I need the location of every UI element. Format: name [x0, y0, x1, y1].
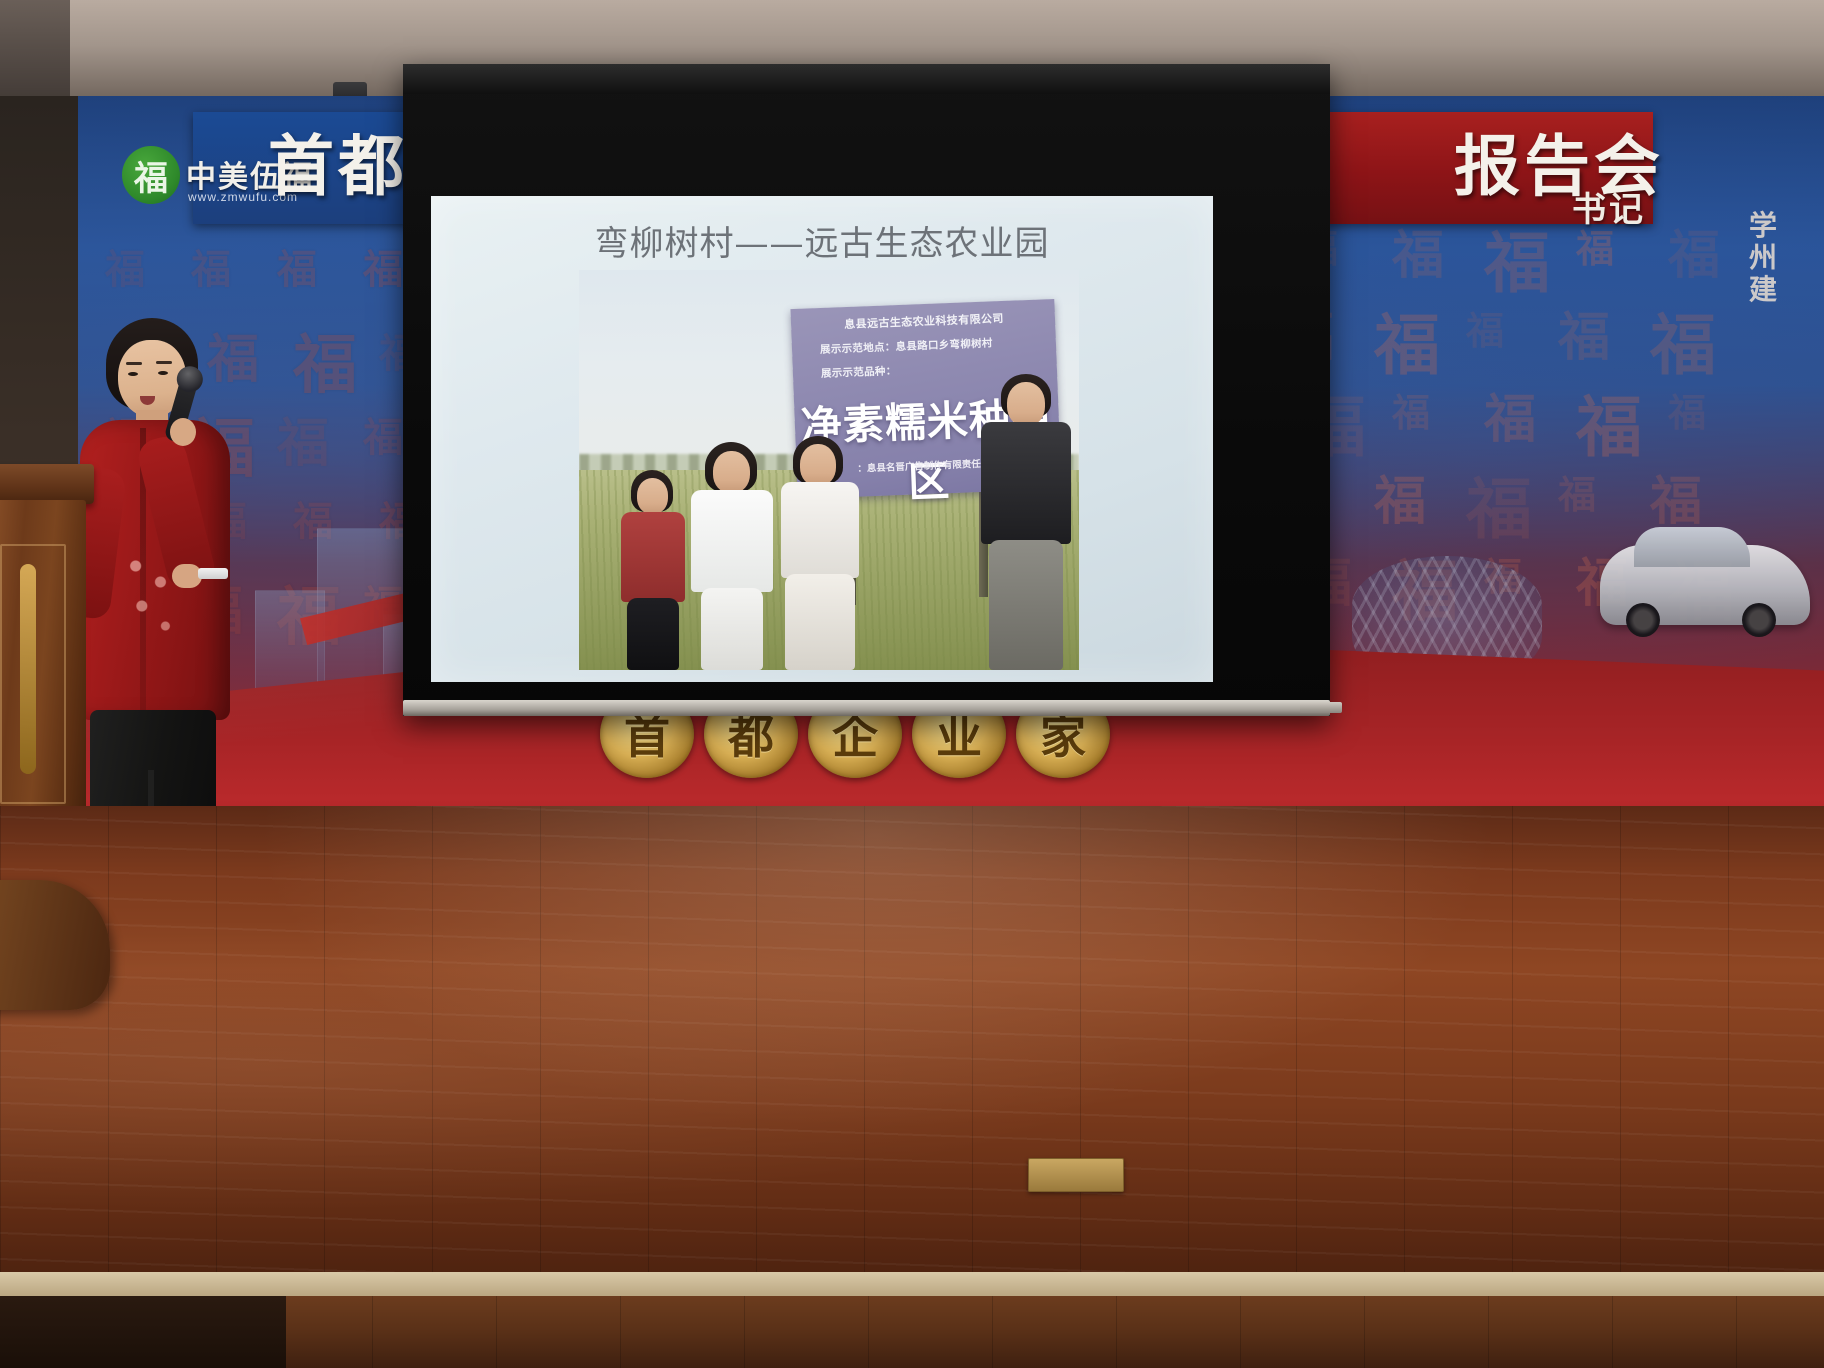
stage-floor — [0, 806, 1824, 1286]
slide-photo: 息县远古生态农业科技有限公司 展示示范地点：息县路口乡弯柳树村 展示示范品种： … — [579, 270, 1079, 670]
fu-watermark-glyph: 福 — [1558, 476, 1596, 514]
tshirt — [981, 422, 1071, 544]
fu-watermark-glyph: 福 — [1484, 230, 1550, 296]
car-wheel-front-icon — [1626, 603, 1660, 637]
presenter-eye-right — [158, 371, 168, 375]
photo-person-4 — [979, 374, 1073, 670]
face — [637, 478, 668, 514]
photo-person-2 — [687, 442, 779, 670]
fu-watermark-glyph: 福 — [1668, 394, 1706, 432]
podium-top-surface — [0, 464, 94, 504]
stage-apron-edge — [0, 1272, 1824, 1298]
fu-watermark-glyph: 福 — [1466, 312, 1504, 350]
podium-gold-accent — [20, 564, 36, 774]
car-wheel-rear-icon — [1742, 603, 1776, 637]
face — [713, 451, 750, 493]
logo-glyph: 福 — [134, 151, 168, 200]
projection-screen-bottom-bar[interactable] — [403, 700, 1330, 716]
banner-subtitle-right: 书记 — [1572, 182, 1646, 231]
fu-watermark-glyph: 福 — [191, 250, 231, 290]
fu-watermark-glyph: 福 — [1576, 394, 1642, 460]
legs — [627, 598, 679, 670]
slide-title: 弯柳树村——远古生态农业园 — [431, 216, 1213, 265]
legs — [701, 588, 763, 670]
fu-watermark-glyph: 福 — [1466, 476, 1532, 542]
fu-watermark-glyph: 福 — [293, 334, 357, 398]
presentation-clicker-icon — [198, 568, 228, 579]
sign-location-line: 展示示范地点：息县路口乡弯柳树村 — [804, 333, 1046, 357]
photo-person-1 — [615, 470, 691, 670]
projection-screen-top-rail — [403, 64, 1330, 94]
fu-watermark-glyph: 福 — [1484, 394, 1536, 446]
torso — [691, 490, 773, 592]
photo-person-3 — [775, 436, 867, 670]
fu-watermark-glyph: 福 — [1374, 476, 1426, 528]
side-caption-right-upper: 学州建 — [1746, 210, 1780, 307]
brass-floor-plate — [1028, 1158, 1124, 1192]
fu-watermark-glyph: 福 — [363, 418, 403, 458]
fu-watermark-glyph: 福 — [1650, 476, 1702, 528]
torso — [621, 512, 685, 602]
fu-watermark-glyph: 福 — [277, 250, 317, 290]
fu-watermark-glyph: 福 — [1374, 312, 1440, 378]
car-decoration — [1600, 545, 1810, 625]
presenter-eye-left — [128, 372, 138, 376]
fu-watermark-glyph: 福 — [1392, 230, 1444, 282]
presenter-brow-right — [156, 361, 172, 364]
skirt — [785, 574, 855, 670]
torso — [781, 482, 859, 578]
fu-watermark-glyph: 福 — [1576, 230, 1614, 268]
fu-watermark-glyph: 福 — [1668, 230, 1720, 282]
presenter-hand-holding-mic — [170, 418, 196, 446]
fu-watermark-glyph: 福 — [105, 250, 145, 290]
sign-company-name: 息县远古生态农业科技有限公司 — [803, 308, 1045, 333]
fu-watermark-glyph: 福 — [363, 250, 403, 290]
trousers — [989, 540, 1063, 670]
projected-slide: 弯柳树村——远古生态农业园 息县远古生态农业科技有限公司 展示示范地点：息县路口… — [431, 196, 1213, 682]
fu-watermark-glyph: 福 — [1392, 394, 1430, 432]
fu-watermark-glyph: 福 — [1650, 312, 1716, 378]
face — [1007, 382, 1045, 426]
face — [800, 444, 836, 486]
presenter-brow-left — [126, 362, 142, 365]
wufu-logo-icon: 福 — [122, 146, 180, 204]
fu-watermark-glyph: 福 — [1558, 312, 1610, 364]
conference-stage-photo: 福福福福福福福福福福福福福福福福福福福福福福福福福 福福福福福福福福福福福福福福… — [0, 0, 1824, 1368]
stage-apron-shadow-left — [0, 1296, 286, 1368]
